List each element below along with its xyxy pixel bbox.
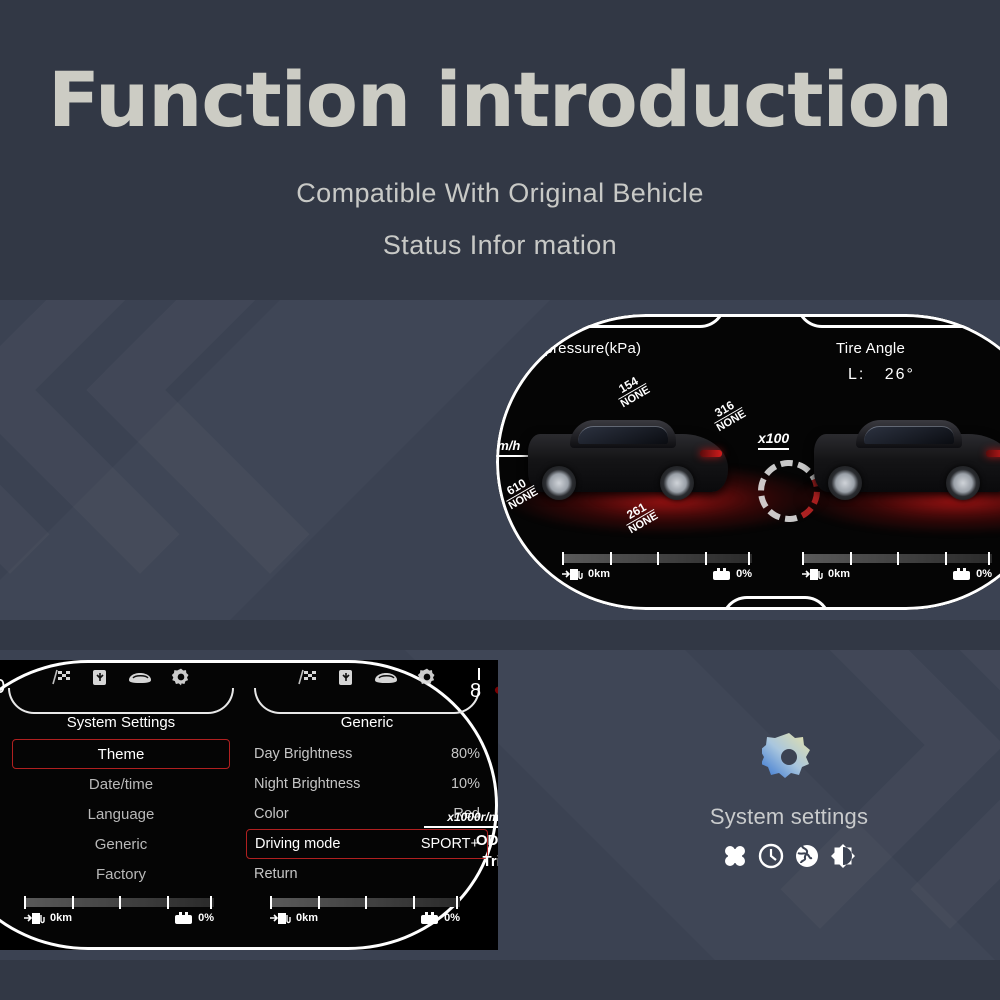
apps-icon [722, 843, 748, 869]
row-return-label: Return [254, 866, 298, 882]
row-night-brightness-value: 10% [451, 776, 480, 792]
subtitle-line-1: Compatible With Original Behicle [0, 178, 1000, 209]
cluster-bottom-notch [721, 596, 831, 610]
battery-icon [952, 568, 972, 581]
tab-underline-right [246, 688, 488, 698]
range-label-right: 0km [828, 568, 850, 580]
status-bar-settings-left: 0km 0% [24, 898, 214, 925]
gear-icon[interactable] [171, 667, 191, 687]
system-settings-icon-row [648, 843, 930, 869]
battery-label-settings-right: 0% [444, 912, 460, 924]
settings-menu-list[interactable]: Theme Date/time Language Generic Factory [0, 739, 242, 889]
row-night-brightness[interactable]: Night Brightness 10% [246, 769, 488, 799]
car-render-right [814, 418, 1000, 510]
fuel-pump-icon [802, 567, 824, 581]
speed-value: 0 [0, 676, 5, 699]
battery-icon [712, 568, 732, 581]
battery-icon [174, 912, 194, 925]
settings-menu-title-right: Generic [246, 714, 488, 731]
globe-icon [794, 843, 820, 869]
menu-item-theme[interactable]: Theme [12, 739, 230, 769]
battery-icon [420, 912, 440, 925]
row-color-label: Color [254, 806, 289, 822]
car-render-left [528, 418, 728, 510]
feature-system-label: System settings [648, 803, 930, 831]
cluster-tab-notch-left [546, 314, 726, 328]
settings-menu-left[interactable]: System Settings Theme Date/time Language… [0, 660, 242, 950]
cluster-tab-notch-right [796, 314, 996, 328]
page-header: Function introduction Compatible With Or… [0, 0, 1000, 300]
range-label-settings-right: 0km [296, 912, 318, 924]
trip-label: Trip [424, 853, 498, 870]
tab-underline-left [0, 688, 242, 698]
fuel-pump-icon [270, 911, 292, 925]
cluster-tab-icons-left[interactable] [0, 660, 242, 690]
range-label-settings-left: 0km [50, 912, 72, 924]
rpm-tick [478, 668, 480, 680]
settings-menu-title-left: System Settings [0, 714, 242, 731]
tire-angle-heading: Tire Angle [836, 340, 905, 357]
gear-icon[interactable] [417, 667, 437, 687]
row-driving-mode-label: Driving mode [255, 836, 340, 852]
row-night-brightness-label: Night Brightness [254, 776, 360, 792]
rpm-redline [494, 669, 498, 695]
page-title: Function introduction [0, 62, 1000, 138]
tire-pressure-heading: Tire pressure(kPa) [514, 340, 641, 357]
status-bar-left: 0km 0% [562, 554, 752, 581]
checkered-flag-icon[interactable] [51, 669, 73, 685]
menu-item-date-time[interactable]: Date/time [0, 769, 242, 799]
checkered-flag-icon[interactable] [297, 669, 319, 685]
row-day-brightness[interactable]: Day Brightness 80% [246, 739, 488, 769]
fuel-pump-icon [562, 567, 584, 581]
status-bar-settings-right: 0km 0% [270, 898, 460, 925]
battery-label-settings-left: 0% [198, 912, 214, 924]
odo-block: x1000r/min ODO Trip [424, 810, 498, 870]
tire-angle-value: L: 26° [848, 366, 915, 384]
instrument-cluster-tire-screen[interactable]: Tire pressure(kPa) Tire Angle L: 26° km/… [496, 314, 1000, 610]
fuel-pump-icon [24, 911, 46, 925]
clock-icon [758, 843, 784, 869]
gear-icon [648, 730, 930, 789]
range-label-left: 0km [588, 568, 610, 580]
rpm-multiplier-label: x100 [758, 430, 789, 450]
battery-label-left: 0% [736, 568, 752, 580]
odo-label: ODO [424, 832, 498, 849]
status-bar-right: 0km 0% [802, 554, 992, 581]
car-icon[interactable] [127, 669, 153, 685]
cluster-tab-icons-right[interactable] [246, 660, 488, 690]
brightness-icon [830, 843, 856, 869]
row-day-brightness-label: Day Brightness [254, 746, 352, 762]
settings-menu-right[interactable]: Generic Day Brightness 80% Night Brightn… [246, 660, 488, 950]
menu-item-language[interactable]: Language [0, 799, 242, 829]
feature-system-settings: System settings [648, 730, 930, 869]
rpm-value: 8 [470, 680, 481, 703]
rpm-unit-label: x1000r/min [424, 810, 498, 828]
fuel-can-icon[interactable] [337, 668, 355, 686]
menu-item-generic[interactable]: Generic [0, 829, 242, 859]
row-day-brightness-value: 80% [451, 746, 480, 762]
fuel-can-icon[interactable] [91, 668, 109, 686]
car-icon[interactable] [373, 669, 399, 685]
instrument-cluster-settings-screen[interactable]: System Settings Theme Date/time Language… [0, 660, 498, 950]
menu-item-factory[interactable]: Factory [0, 859, 242, 889]
subtitle-line-2: Status Infor mation [0, 230, 1000, 261]
battery-label-right: 0% [976, 568, 992, 580]
